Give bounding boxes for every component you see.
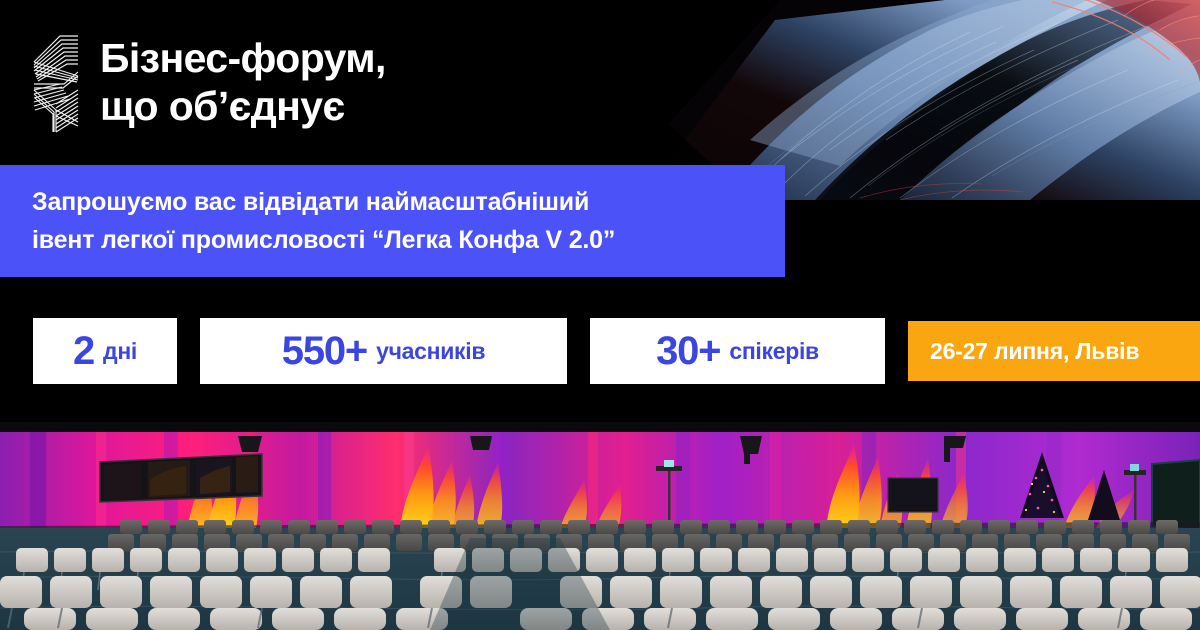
stat-number-participants: 550+ — [282, 331, 367, 371]
stat-card-participants: 550+ учасників — [200, 318, 567, 384]
invite-text: Запрошуємо вас відвідати наймасштабніший… — [0, 183, 615, 259]
date-location-chip: 26-27 липня, Львів — [908, 321, 1200, 381]
stat-label-speakers: спікерів — [729, 340, 819, 363]
stat-card-days: 2 дні — [33, 318, 177, 384]
conference-hall-photo — [0, 422, 1200, 630]
invite-line-2: івент легкої промисловості “Легка Конфа … — [32, 221, 615, 259]
promo-banner: Бізнес-форум, що об’єднує Запрошуємо вас… — [0, 0, 1200, 630]
headline-line-2: що об’єднує — [100, 82, 660, 130]
stat-label-participants: учасників — [376, 340, 485, 363]
stat-card-speakers: 30+ спікерів — [590, 318, 885, 384]
stat-label-days: дні — [103, 340, 137, 363]
stat-number-days: 2 — [73, 331, 94, 371]
stat-number-speakers: 30+ — [656, 331, 720, 371]
woven-threads-logo-icon — [30, 32, 82, 136]
invite-line-1: Запрошуємо вас відвідати наймасштабніший — [32, 183, 615, 221]
date-location-text: 26-27 липня, Львів — [908, 338, 1139, 365]
page-title: Бізнес-форум, що об’єднує — [100, 34, 660, 130]
headline-line-1: Бізнес-форум, — [100, 34, 660, 82]
invite-banner: Запрошуємо вас відвідати наймасштабніший… — [0, 165, 785, 277]
